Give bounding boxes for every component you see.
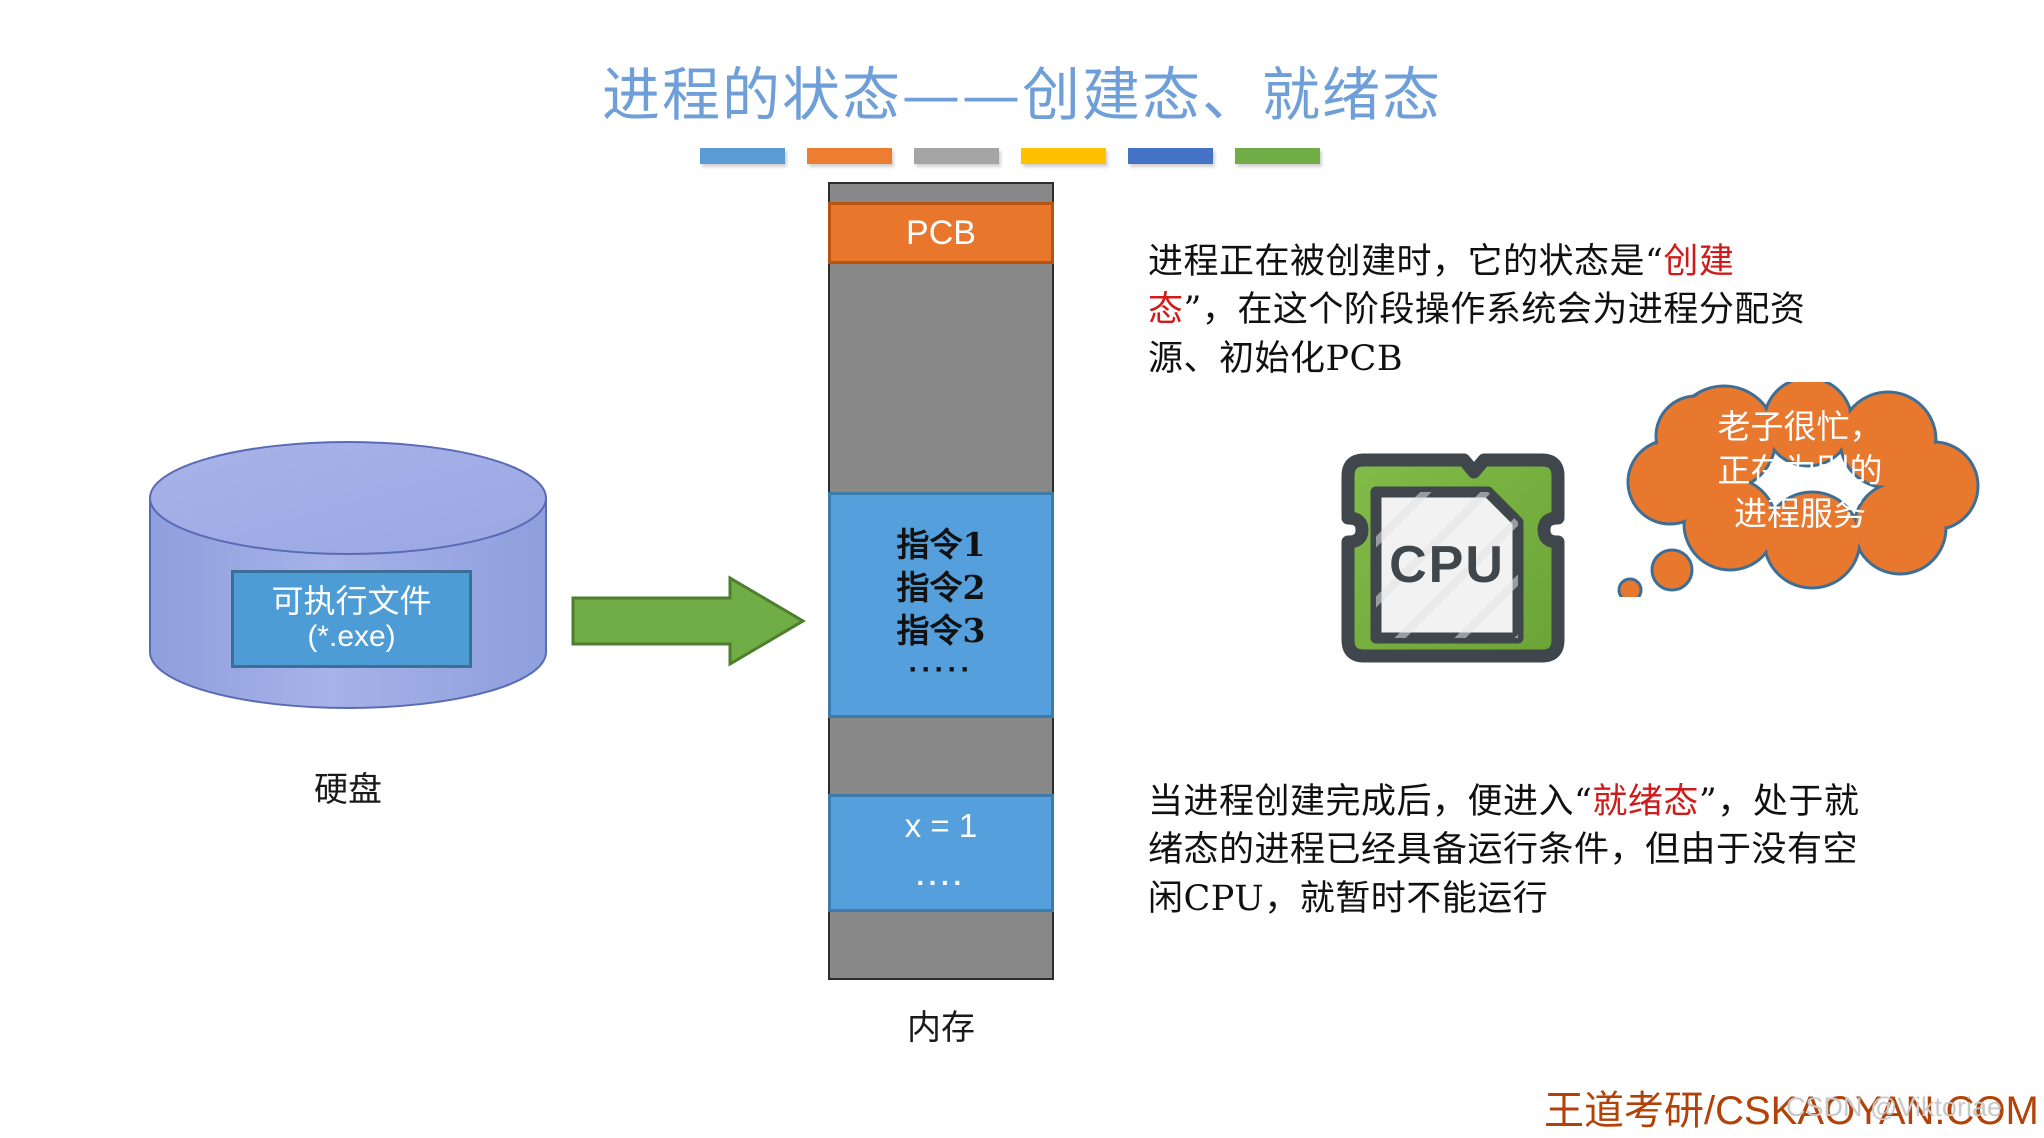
thought-bubble [1612,382,1992,597]
memory-block-pcb: PCB [828,202,1054,264]
note-ready-part1: 当进程创建完成后，便进入“ [1148,782,1592,822]
accent-bar-6 [1235,148,1320,164]
note-ready-highlight: 就绪态 [1592,782,1699,822]
accent-bar-2 [807,148,892,164]
data-ellipsis: ···· [916,867,965,899]
code-line-1: 指令1 [897,524,986,567]
accent-bar-5 [1128,148,1213,164]
exe-label-cn: 可执行文件 [271,584,431,620]
footer-watermark: CSDN @Viktoriae [1786,1092,2002,1123]
right-arrow-icon [570,575,806,667]
title-accent-bars [700,148,1320,164]
slide-canvas: 进程的状态——创建态、就绪态 可执 [0,0,2044,1138]
note-create-part2: ”，在这个阶段操作系统会为进程分配资源、初始化PCB [1148,290,1805,378]
cpu-text-label: CPU [1389,536,1505,594]
code-line-2: 指令2 [897,567,986,610]
note-create-state: 进程正在被创建时，它的状态是“创建态”，在这个阶段操作系统会为进程分配资源、初始… [1148,238,1808,383]
executable-file-box: 可执行文件 (*.exe) [231,570,472,668]
accent-bar-4 [1021,148,1106,164]
note-ready-state: 当进程创建完成后，便进入“就绪态”，处于就绪态的进程已经具备运行条件，但由于没有… [1148,778,1868,923]
load-arrow [570,575,806,667]
data-value: x = 1 [905,807,977,845]
hard-disk-label: 硬盘 [228,762,468,811]
pcb-label: PCB [906,214,976,253]
exe-label-en: (*.exe) [307,620,395,654]
cpu-chip: CPU [1318,430,1578,700]
accent-bar-1 [700,148,785,164]
cpu-chip-icon: CPU [1318,430,1578,700]
page-title: 进程的状态——创建态、就绪态 [0,48,2044,132]
memory-block-data: x = 1 ···· [828,794,1054,912]
note-create-part1: 进程正在被创建时，它的状态是“ [1148,242,1663,282]
thought-cloud-icon [1612,382,1992,597]
memory-label: 内存 [828,1000,1054,1049]
accent-bar-3 [914,148,999,164]
code-ellipsis: ····· [909,653,974,686]
memory-block-code: 指令1 指令2 指令3 ····· [828,492,1054,718]
code-line-3: 指令3 [897,610,986,653]
memory-column: PCB 指令1 指令2 指令3 ····· x = 1 ···· [828,182,1054,980]
